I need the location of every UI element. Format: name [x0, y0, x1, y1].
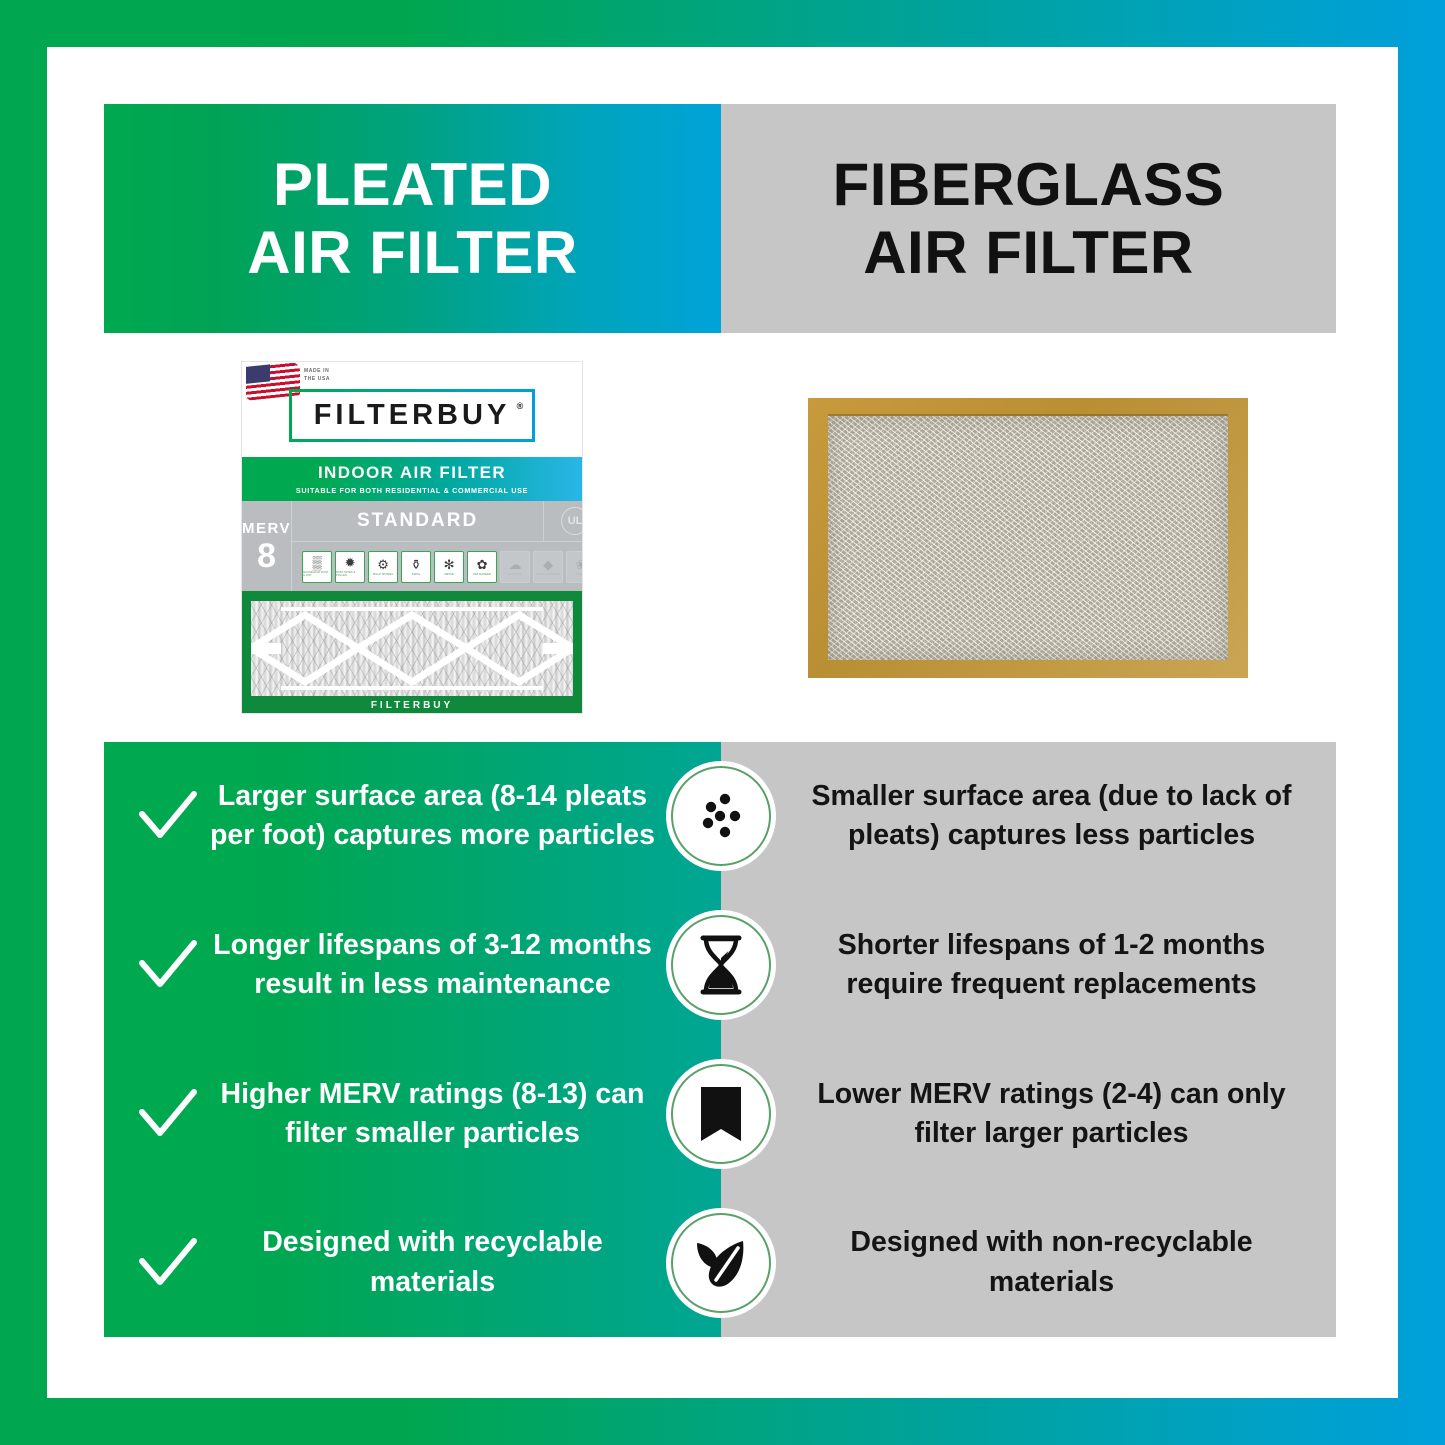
package-gradient-band: INDOOR AIR FILTER SUITABLE FOR BOTH RESI…	[242, 457, 582, 501]
comparison-text-fiberglass: Smaller surface area (due to lack of ple…	[793, 777, 1310, 856]
capability-icon: ⚙MOLD SPORES	[368, 551, 398, 583]
comparison-row-pleated: Larger surface area (8-14 pleats per foo…	[104, 742, 721, 891]
capability-caption: PET DANDER	[473, 573, 491, 576]
comparison-table: Larger surface area (8-14 pleats per foo…	[104, 742, 1336, 1337]
comparison-text-fiberglass: Shorter lifespans of 1-2 months require …	[793, 926, 1310, 1005]
comparison-text-fiberglass: Lower MERV ratings (2-4) can only filter…	[793, 1075, 1310, 1154]
capability-glyph: ⚙	[377, 558, 389, 571]
bookmark-icon	[671, 1064, 771, 1164]
ul-certification: UL	[544, 501, 582, 541]
package-subtitle: SUITABLE FOR BOTH RESIDENTIAL & COMMERCI…	[296, 486, 528, 495]
grade-label: STANDARD	[292, 501, 544, 541]
infographic-canvas: PLEATED AIR FILTER FIBERGLASS AIR FILTER	[47, 47, 1398, 1398]
capability-caption: BACTERIA	[508, 573, 522, 576]
package-footer-brand: FILTERBUY	[242, 700, 582, 711]
comparison-text-pleated: Higher MERV ratings (8-13) can filter sm…	[204, 1075, 661, 1154]
header-fiberglass-title: FIBERGLASS AIR FILTER	[833, 151, 1225, 285]
header-fiberglass-line1: FIBERGLASS	[833, 151, 1225, 218]
pleated-product-cell: MADE IN THE USA FILTERBUY ® INDOOR AIR F…	[104, 333, 720, 742]
ul-mark-icon: UL	[561, 507, 582, 535]
capability-glyph: ❀	[576, 558, 582, 571]
capability-glyph: ✹	[345, 556, 356, 569]
comparison-row-pleated: Longer lifespans of 3-12 months result i…	[104, 891, 721, 1040]
comparison-text-pleated: Longer lifespans of 3-12 months result i…	[204, 926, 661, 1005]
support-grid-icon	[251, 601, 573, 696]
hourglass-icon	[671, 915, 771, 1015]
capability-glyph: ✿	[477, 558, 488, 571]
capability-icon-disabled: ❀ODORS	[566, 551, 582, 583]
merv-value: 8	[257, 539, 276, 573]
comparison-row-fiberglass: Designed with non-recyclable materials	[721, 1188, 1336, 1337]
capability-icon-disabled: ☁BACTERIA	[500, 551, 530, 583]
made-in-usa-label: MADE IN THE USA	[304, 368, 330, 383]
check-mark-icon	[132, 790, 204, 842]
capability-glyph: ☁	[509, 558, 522, 571]
capability-icon: ✿PET DANDER	[467, 551, 497, 583]
capability-caption: DUST MITES & POLLEN	[336, 571, 364, 577]
particles-icon	[671, 766, 771, 866]
merv-label: MERV	[242, 520, 291, 537]
capability-icon: ✻SMOKE	[434, 551, 464, 583]
comparison-row: Longer lifespans of 3-12 months result i…	[104, 891, 1336, 1040]
pleated-media-section: FILTERBUY	[242, 591, 582, 713]
capability-glyph: ⚱	[411, 558, 422, 571]
made-in-line1: MADE IN	[304, 368, 330, 376]
made-in-line2: THE USA	[304, 376, 330, 384]
capability-caption: MOLD SPORES	[373, 573, 393, 576]
capability-caption: HOUSEHOLD DUST & LINT	[303, 571, 331, 577]
grade-row: STANDARD UL	[292, 501, 582, 542]
header-fiberglass: FIBERGLASS AIR FILTER	[721, 104, 1336, 333]
indoor-air-filter-label: INDOOR AIR FILTER	[318, 463, 506, 483]
comparison-row-fiberglass: Smaller surface area (due to lack of ple…	[721, 742, 1336, 891]
capability-glyph: ▒	[312, 556, 321, 569]
comparison-row: Larger surface area (8-14 pleats per foo…	[104, 742, 1336, 891]
capability-icon: ▒HOUSEHOLD DUST & LINT	[302, 551, 332, 583]
comparison-text-pleated: Larger surface area (8-14 pleats per foo…	[204, 777, 661, 856]
merv-badge: MERV 8	[242, 501, 292, 591]
check-mark-icon	[132, 1088, 204, 1140]
pleat-texture	[251, 601, 573, 696]
capability-caption: ODORS	[576, 573, 582, 576]
capability-icon-strip: ▒HOUSEHOLD DUST & LINT ✹DUST MITES & POL…	[292, 542, 582, 591]
comparison-row: Designed with recyclable materials Desig…	[104, 1188, 1336, 1337]
package-spec-right: STANDARD UL ▒HOUSEHOLD DUST & LINT ✹DUST…	[292, 501, 582, 591]
comparison-row-fiberglass: Shorter lifespans of 1-2 months require …	[721, 891, 1336, 1040]
header-pleated-title: PLEATED AIR FILTER	[247, 151, 578, 285]
filterbuy-logo: FILTERBUY ®	[289, 389, 536, 442]
product-image-band: MADE IN THE USA FILTERBUY ® INDOOR AIR F…	[104, 333, 1336, 742]
capability-icon: ✹DUST MITES & POLLEN	[335, 551, 365, 583]
fiberglass-filter-image	[808, 398, 1248, 678]
check-mark-icon	[132, 939, 204, 991]
capability-caption: SMOG	[412, 573, 420, 576]
outer-gradient-frame: PLEATED AIR FILTER FIBERGLASS AIR FILTER	[0, 0, 1445, 1445]
comparison-text-pleated: Designed with recyclable materials	[204, 1223, 661, 1302]
header-pleated: PLEATED AIR FILTER	[104, 104, 721, 333]
trademark-symbol: ®	[517, 401, 528, 411]
capability-icon-disabled: ◆VIRUS CARRIERS	[533, 551, 563, 583]
check-mark-icon	[132, 1237, 204, 1289]
filterbuy-wordmark: FILTERBUY	[314, 399, 511, 431]
capability-caption: SMOKE	[444, 573, 454, 576]
header-fiberglass-line2: AIR FILTER	[833, 219, 1225, 286]
comparison-row-pleated: Designed with recyclable materials	[104, 1188, 721, 1337]
capability-glyph: ✻	[444, 558, 455, 571]
comparison-text-fiberglass: Designed with non-recyclable materials	[793, 1223, 1310, 1302]
header-pleated-line2: AIR FILTER	[247, 219, 578, 286]
comparison-row-fiberglass: Lower MERV ratings (2-4) can only filter…	[721, 1040, 1336, 1189]
package-spec-section: MERV 8 STANDARD UL ▒HOUSEHOLD D	[242, 501, 582, 591]
comparison-row-pleated: Higher MERV ratings (8-13) can filter sm…	[104, 1040, 721, 1189]
comparison-row: Higher MERV ratings (8-13) can filter sm…	[104, 1040, 1336, 1189]
header-pleated-line1: PLEATED	[247, 151, 578, 218]
fiberglass-product-cell	[720, 333, 1336, 742]
frame-seam-line	[828, 414, 1228, 416]
capability-caption: VIRUS CARRIERS	[536, 573, 559, 576]
capability-icon: ⚱SMOG	[401, 551, 431, 583]
filterbuy-package-image: MADE IN THE USA FILTERBUY ® INDOOR AIR F…	[242, 362, 582, 713]
fiberglass-mesh-texture	[828, 416, 1228, 660]
header-band: PLEATED AIR FILTER FIBERGLASS AIR FILTER	[104, 104, 1336, 333]
package-top-section: MADE IN THE USA FILTERBUY ®	[242, 362, 582, 457]
leaf-icon	[671, 1213, 771, 1313]
capability-glyph: ◆	[543, 558, 553, 571]
